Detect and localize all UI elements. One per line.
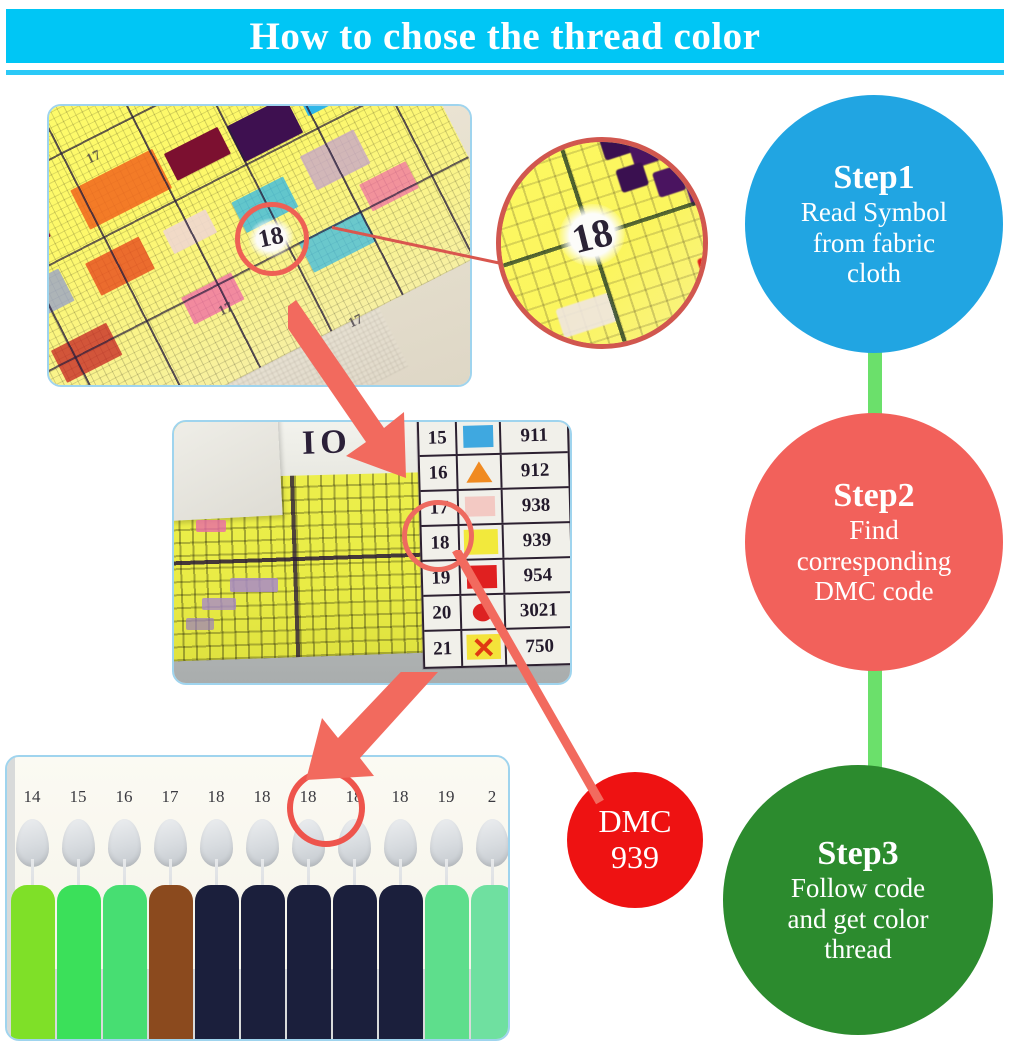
- thread-holder-icon: [154, 819, 187, 867]
- list-item: 18: [239, 757, 285, 1041]
- step-1-circle: Step1 Read Symbol from fabric cloth: [745, 95, 1003, 353]
- thread-holder-icon: [16, 819, 49, 867]
- thread-skein: [103, 885, 147, 1041]
- step-2-line-1: Find: [797, 515, 951, 545]
- thread-skein: [333, 885, 377, 1041]
- thread-skein: [57, 885, 101, 1041]
- list-item: 18: [193, 757, 239, 1041]
- step-1-title: Step1: [833, 160, 914, 196]
- step-2-circle: Step2 Find corresponding DMC code: [745, 413, 1003, 671]
- step-3-line-2: and get color: [788, 904, 929, 934]
- thread-slot-number: 18: [193, 787, 239, 807]
- thread-holder-icon: [200, 819, 233, 867]
- thread-skein: [425, 885, 469, 1041]
- header-divider: [6, 70, 1004, 75]
- thread-holder-icon: [108, 819, 141, 867]
- step-1-line-2: from fabric: [801, 228, 947, 258]
- thread-holder-icon: [62, 819, 95, 867]
- step-3-title: Step3: [817, 836, 898, 872]
- legend-row-code: 938: [503, 488, 570, 523]
- list-item: 17: [147, 757, 193, 1041]
- thread-holder-icon: [384, 819, 417, 867]
- magnifier-zoom-bubble: 18: [496, 137, 708, 349]
- thread-slot-number: 14: [9, 787, 55, 807]
- thread-slot-number: 17: [147, 787, 193, 807]
- legend-row-code: 911: [501, 420, 568, 453]
- arrow-fabric-to-legend: [288, 300, 468, 490]
- step-connector-1: [868, 348, 882, 420]
- thread-skein: [241, 885, 285, 1041]
- step-1-line-3: cloth: [801, 258, 947, 288]
- thread-skein: [471, 885, 510, 1041]
- list-item: 16: [101, 757, 147, 1041]
- photo-thread-organizer: 14 15 16 17 18 18 18: [5, 755, 510, 1041]
- step-2-title: Step2: [833, 478, 914, 514]
- thread-slot-number: 18: [239, 787, 285, 807]
- step-3-line-1: Follow code: [788, 873, 929, 903]
- infographic-page: How to chose the thread color 17 17 17: [0, 0, 1010, 1044]
- step-3-circle: Step3 Follow code and get color thread: [723, 765, 993, 1035]
- list-item: 14: [9, 757, 55, 1041]
- step-2-line-3: DMC code: [797, 576, 951, 606]
- step-connector-2: [868, 666, 882, 770]
- step-3-line-3: thread: [788, 934, 929, 964]
- thread-holder-icon: [246, 819, 279, 867]
- list-item: 18: [377, 757, 423, 1041]
- step-1-line-1: Read Symbol: [801, 197, 947, 227]
- arrow-legend-to-threads: [288, 672, 448, 792]
- thread-slot-number: 16: [101, 787, 147, 807]
- page-title: How to chose the thread color: [250, 17, 761, 56]
- dmc-badge-code: 939: [611, 840, 659, 876]
- thread-skein: [287, 885, 331, 1041]
- legend-row-code: 912: [502, 453, 569, 488]
- thread-skein: [379, 885, 423, 1041]
- thread-skein: [11, 885, 55, 1041]
- thread-skein: [195, 885, 239, 1041]
- list-item: 15: [55, 757, 101, 1041]
- thread-slot-number: 15: [55, 787, 101, 807]
- step-2-line-2: corresponding: [797, 546, 951, 576]
- thread-skein: [149, 885, 193, 1041]
- line-legend-to-dmc-badge: [450, 550, 650, 830]
- legend-paper-corner: [172, 420, 283, 521]
- header-banner: How to chose the thread color: [6, 9, 1004, 63]
